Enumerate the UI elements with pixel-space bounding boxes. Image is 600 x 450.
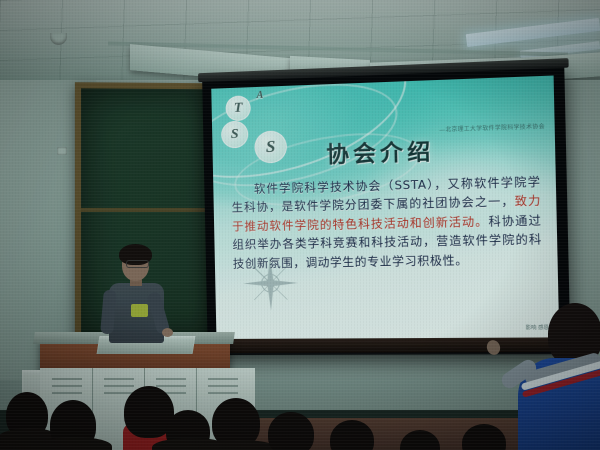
screen-bottom-bar	[216, 337, 559, 353]
audience-shoulders	[198, 440, 278, 450]
locker-vent	[104, 385, 134, 387]
presentation-slide: T A S S —北京理工大学软件学院科学技术协会 协会介绍 软件学院科学技术协…	[211, 76, 559, 339]
projection-screen: T A S S —北京理工大学软件学院科学技术协会 协会介绍 软件学院科学技术协…	[202, 66, 570, 355]
locker-vent	[156, 378, 186, 380]
audience-head	[268, 412, 314, 450]
locker-vent	[104, 378, 134, 380]
locker-vent	[52, 392, 82, 394]
presenter-shirt-graphic	[131, 304, 148, 317]
locker-vent	[208, 385, 238, 387]
classroom-photo-scene: T A S S —北京理工大学软件学院科学技术协会 协会介绍 软件学院科学技术协…	[0, 0, 600, 450]
presenter	[100, 244, 180, 354]
locker-vent	[52, 385, 82, 387]
locker-vent	[208, 392, 238, 394]
locker-vent	[156, 385, 186, 387]
compass-rose-watermark	[241, 254, 301, 313]
slide-body-segment-1: 软件学院科学技术协会（SSTA），又称软件学院学生科协，是软件学院分团委下属的社…	[232, 174, 541, 215]
slide-footer-note: 影响 感恩	[524, 325, 550, 332]
paragraph-indent	[231, 193, 253, 194]
presenter-glasses-icon	[126, 260, 149, 268]
wall-outlet-icon	[57, 147, 67, 155]
presenter-hand	[162, 328, 173, 337]
audience-shoulders	[36, 437, 112, 450]
locker-vent	[208, 378, 238, 380]
locker-vent	[52, 378, 82, 380]
